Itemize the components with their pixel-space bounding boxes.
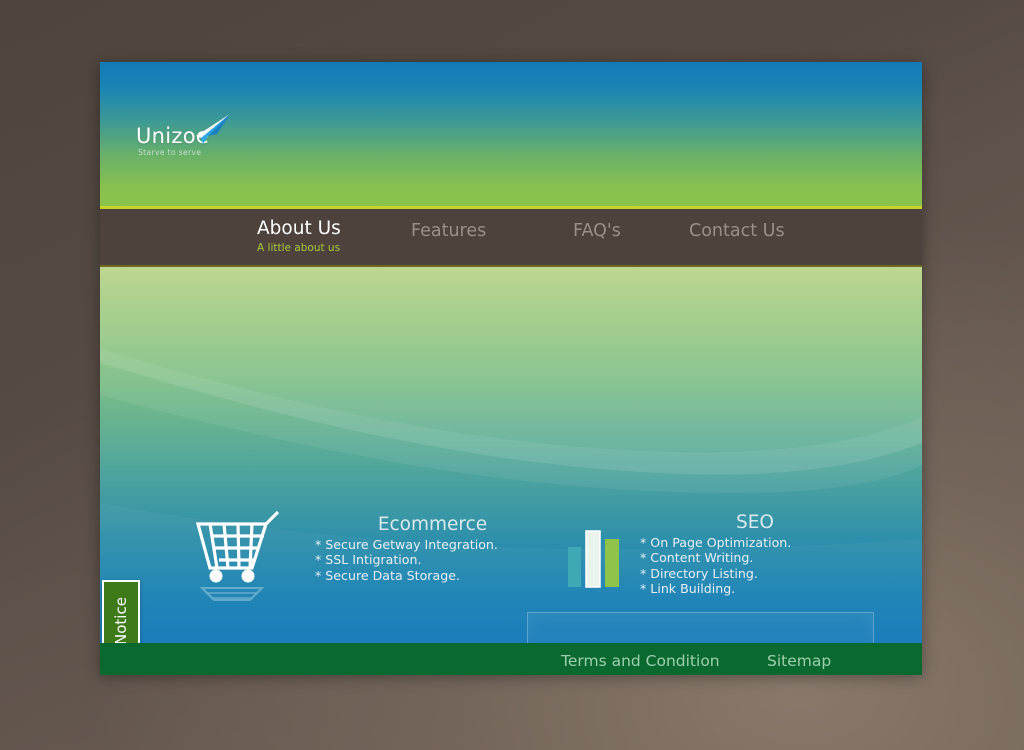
notice-tab[interactable]: Notice — [102, 580, 140, 643]
section-seo: SEO * On Page Optimization.* Content Wri… — [640, 512, 870, 596]
nav-item-contact-us[interactable]: Contact Us — [689, 221, 785, 241]
paper-plane-icon — [184, 112, 232, 146]
main-navigation: About UsA little about usFeaturesFAQ'sCo… — [100, 209, 922, 267]
nav-item-subtitle: A little about us — [257, 242, 340, 254]
footer-link-sitemap[interactable]: Sitemap — [767, 652, 831, 670]
nav-item-features[interactable]: Features — [411, 221, 486, 241]
shopping-cart-icon — [188, 510, 283, 602]
desktop-background: Unizoe Starve to serve About UsA little … — [0, 0, 1024, 750]
seo-title: SEO — [640, 512, 870, 533]
section-customized-projects: Customized Projects * Customized Project… — [527, 612, 874, 643]
main-content: Ecommerce * Secure Getway Integration.* … — [100, 267, 922, 643]
site-header: Unizoe Starve to serve — [100, 62, 922, 209]
ecommerce-line: * Secure Data Storage. — [315, 568, 550, 583]
ecommerce-items: * Secure Getway Integration.* SSL Intigr… — [315, 537, 550, 583]
ecommerce-line: * Secure Getway Integration. — [315, 537, 550, 552]
ecommerce-title: Ecommerce — [315, 514, 550, 535]
bar-chart-icon — [566, 527, 622, 589]
seo-items: * On Page Optimization.* Content Writing… — [640, 535, 870, 596]
section-ecommerce: Ecommerce * Secure Getway Integration.* … — [315, 514, 550, 583]
seo-line: * Content Writing. — [640, 550, 870, 565]
nav-item-about-us[interactable]: About Us — [257, 218, 341, 239]
seo-line: * Directory Listing. — [640, 566, 870, 581]
seo-line: * Link Building. — [640, 581, 870, 596]
notice-tab-label: Notice — [112, 597, 130, 643]
nav-item-faq-s[interactable]: FAQ's — [573, 221, 621, 241]
site-footer: Terms and ConditionSitemap — [100, 643, 922, 675]
brand-tagline: Starve to serve — [138, 148, 201, 157]
website-page: Unizoe Starve to serve About UsA little … — [100, 62, 922, 675]
ecommerce-line: * SSL Intigration. — [315, 552, 550, 567]
footer-link-terms-and-condition[interactable]: Terms and Condition — [561, 652, 720, 670]
brand-logo[interactable]: Unizoe Starve to serve — [136, 124, 336, 184]
seo-line: * On Page Optimization. — [640, 535, 870, 550]
